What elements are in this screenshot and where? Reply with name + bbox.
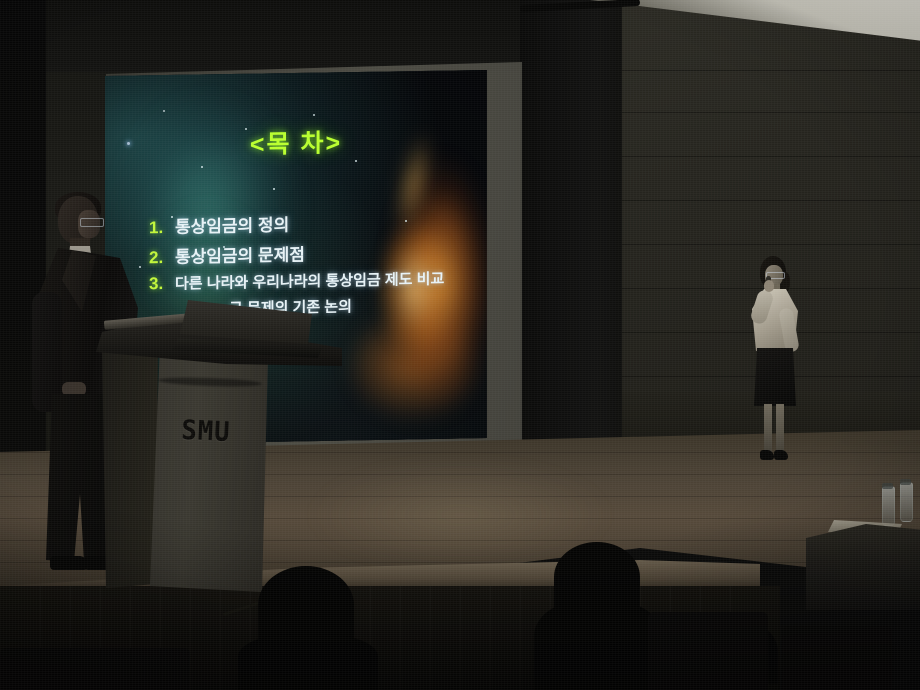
bottle-cap xyxy=(882,483,893,489)
seat-back xyxy=(782,626,892,690)
list-item: 3. 다른 나라와 우리나라의 통상임금 제도 비교 xyxy=(149,267,487,295)
list-item-text: 다른 나라와 우리나라의 통상임금 제도 비교 xyxy=(175,268,444,294)
audience-head xyxy=(258,566,354,644)
list-item-number: 1. xyxy=(149,218,168,238)
list-item-text: 통상임금의 문제점 xyxy=(175,240,305,267)
podium-side-panel xyxy=(102,340,158,588)
water-bottle xyxy=(900,482,913,522)
side-table xyxy=(806,524,920,610)
audience-shoulders xyxy=(238,634,378,690)
black-skirt xyxy=(754,348,796,406)
seat-back xyxy=(648,612,768,690)
water-bottle xyxy=(882,486,895,526)
presenter-woman xyxy=(742,256,812,466)
leg xyxy=(764,404,772,452)
hand xyxy=(62,382,86,396)
seat-back xyxy=(0,648,190,690)
list-item-number: 3. xyxy=(149,274,168,294)
upper-dark-wall xyxy=(0,0,560,72)
high-heel-shoe xyxy=(774,450,788,460)
slide-title: <목 차> xyxy=(105,120,487,163)
list-item-number: 2. xyxy=(149,248,168,268)
list-item-text: 통상임금의 정의 xyxy=(175,211,289,238)
wall-pillar xyxy=(520,0,628,470)
list-item: 1. 통상임금의 정의 xyxy=(149,207,487,239)
glasses-icon xyxy=(80,218,104,227)
list-item: 2. 통상임금의 문제점 xyxy=(149,237,487,269)
audience-shoulders xyxy=(534,600,662,690)
bottle-cap xyxy=(900,479,911,485)
leg xyxy=(776,404,784,452)
podium-logo-smu: SMU xyxy=(181,415,231,448)
hand xyxy=(764,280,774,292)
high-heel-shoe xyxy=(760,450,774,460)
shoe xyxy=(50,556,88,570)
auditorium-photo: <목 차> 1. 통상임금의 정의 2. 통상임금의 문제점 3. 다른 나라와… xyxy=(0,0,920,690)
